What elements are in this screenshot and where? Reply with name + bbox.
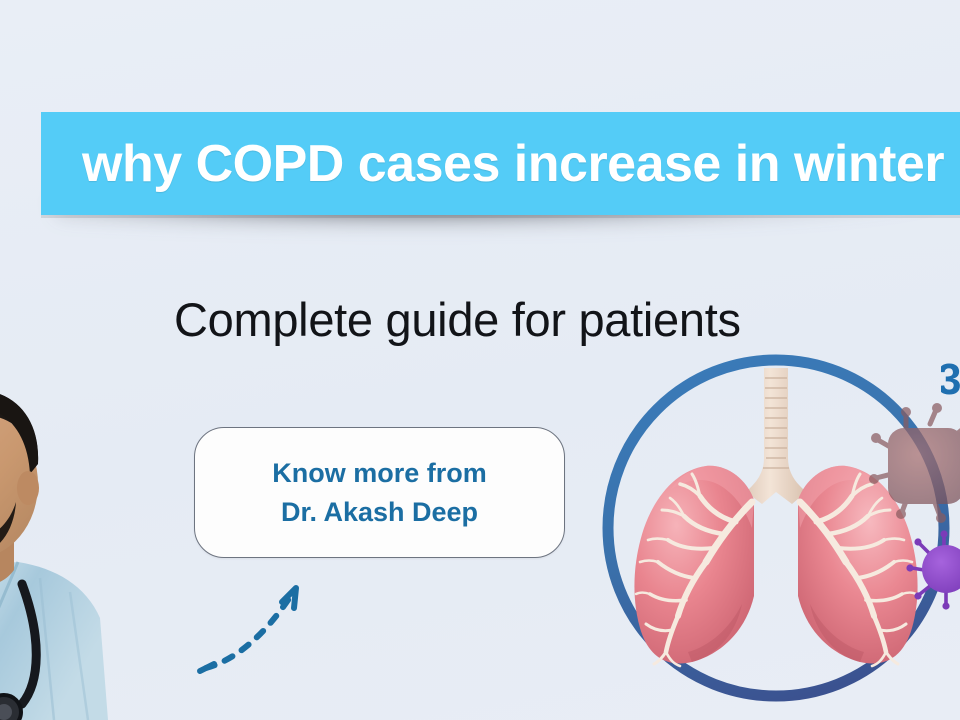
- poster-canvas: why COPD cases increase in winter Comple…: [0, 0, 960, 720]
- lung-left: [634, 466, 754, 666]
- doctor-portrait-image: [0, 352, 152, 720]
- subtitle-text: Complete guide for patients: [174, 292, 741, 347]
- trachea: [746, 368, 806, 504]
- edge-glyph-text: 3: [941, 358, 960, 402]
- cta-line-1: Know more from: [272, 454, 487, 492]
- cta-line-2: Dr. Akash Deep: [281, 493, 478, 531]
- edge-cropped-glyph: 3: [941, 358, 960, 402]
- page-title: why COPD cases increase in winter: [82, 134, 944, 194]
- dashed-arrow-icon: [188, 572, 318, 682]
- title-banner: why COPD cases increase in winter: [41, 112, 960, 215]
- lungs-illustration: [596, 352, 960, 720]
- know-more-card[interactable]: Know more from Dr. Akash Deep: [194, 427, 565, 558]
